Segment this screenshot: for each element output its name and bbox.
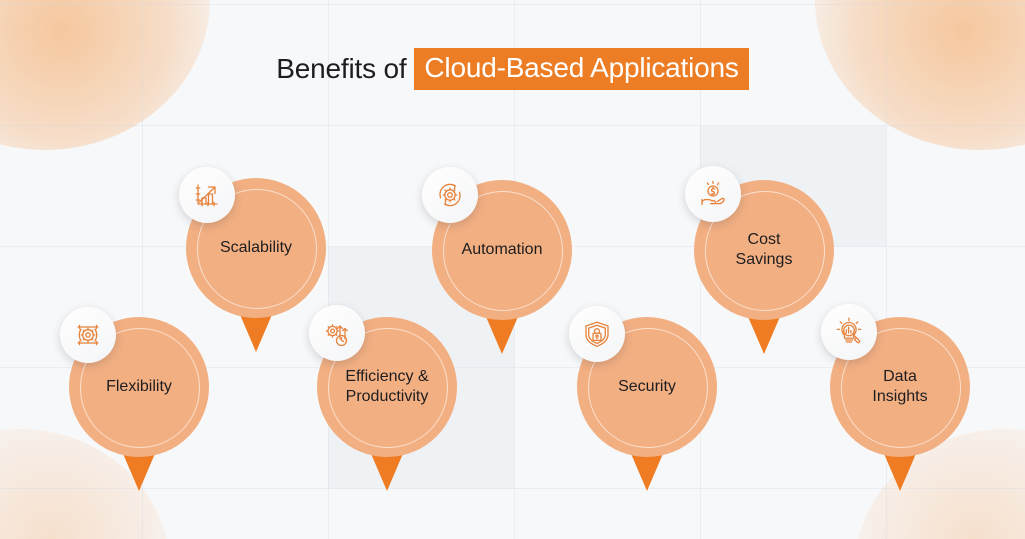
benefit-label: Data Insights	[862, 367, 937, 408]
page-title: Benefits ofCloud-Based Applications	[0, 48, 1025, 90]
benefit-label: Automation	[452, 240, 553, 260]
lightbulb-chart-magnifier-icon[interactable]	[821, 304, 877, 360]
benefit-label: Scalability	[210, 238, 302, 258]
shield-lock-icon[interactable]	[569, 306, 625, 362]
benefit-label: Security	[608, 377, 686, 397]
title-plain-text: Benefits of	[276, 53, 406, 84]
infographic-canvas: Benefits ofCloud-Based Applications Flex…	[0, 0, 1025, 539]
hand-holding-coin-icon[interactable]	[685, 166, 741, 222]
benefit-node-cost-savings[interactable]: Cost Savings	[694, 180, 834, 354]
benefit-node-data-insights[interactable]: Data Insights	[830, 317, 970, 491]
benefit-label: Cost Savings	[726, 230, 803, 271]
growth-chart-arrow-icon[interactable]	[179, 167, 235, 223]
title-highlight-text: Cloud-Based Applications	[414, 48, 748, 90]
gear-arrows-clock-icon[interactable]	[309, 305, 365, 361]
benefit-node-automation[interactable]: Automation	[432, 180, 572, 354]
flexible-gear-scroll-icon[interactable]	[60, 307, 116, 363]
benefit-label: Flexibility	[96, 377, 182, 397]
benefit-node-scalability[interactable]: Scalability	[186, 178, 326, 352]
benefit-label: Efficiency & Productivity	[335, 367, 438, 408]
gear-cycle-arrows-icon[interactable]	[422, 167, 478, 223]
